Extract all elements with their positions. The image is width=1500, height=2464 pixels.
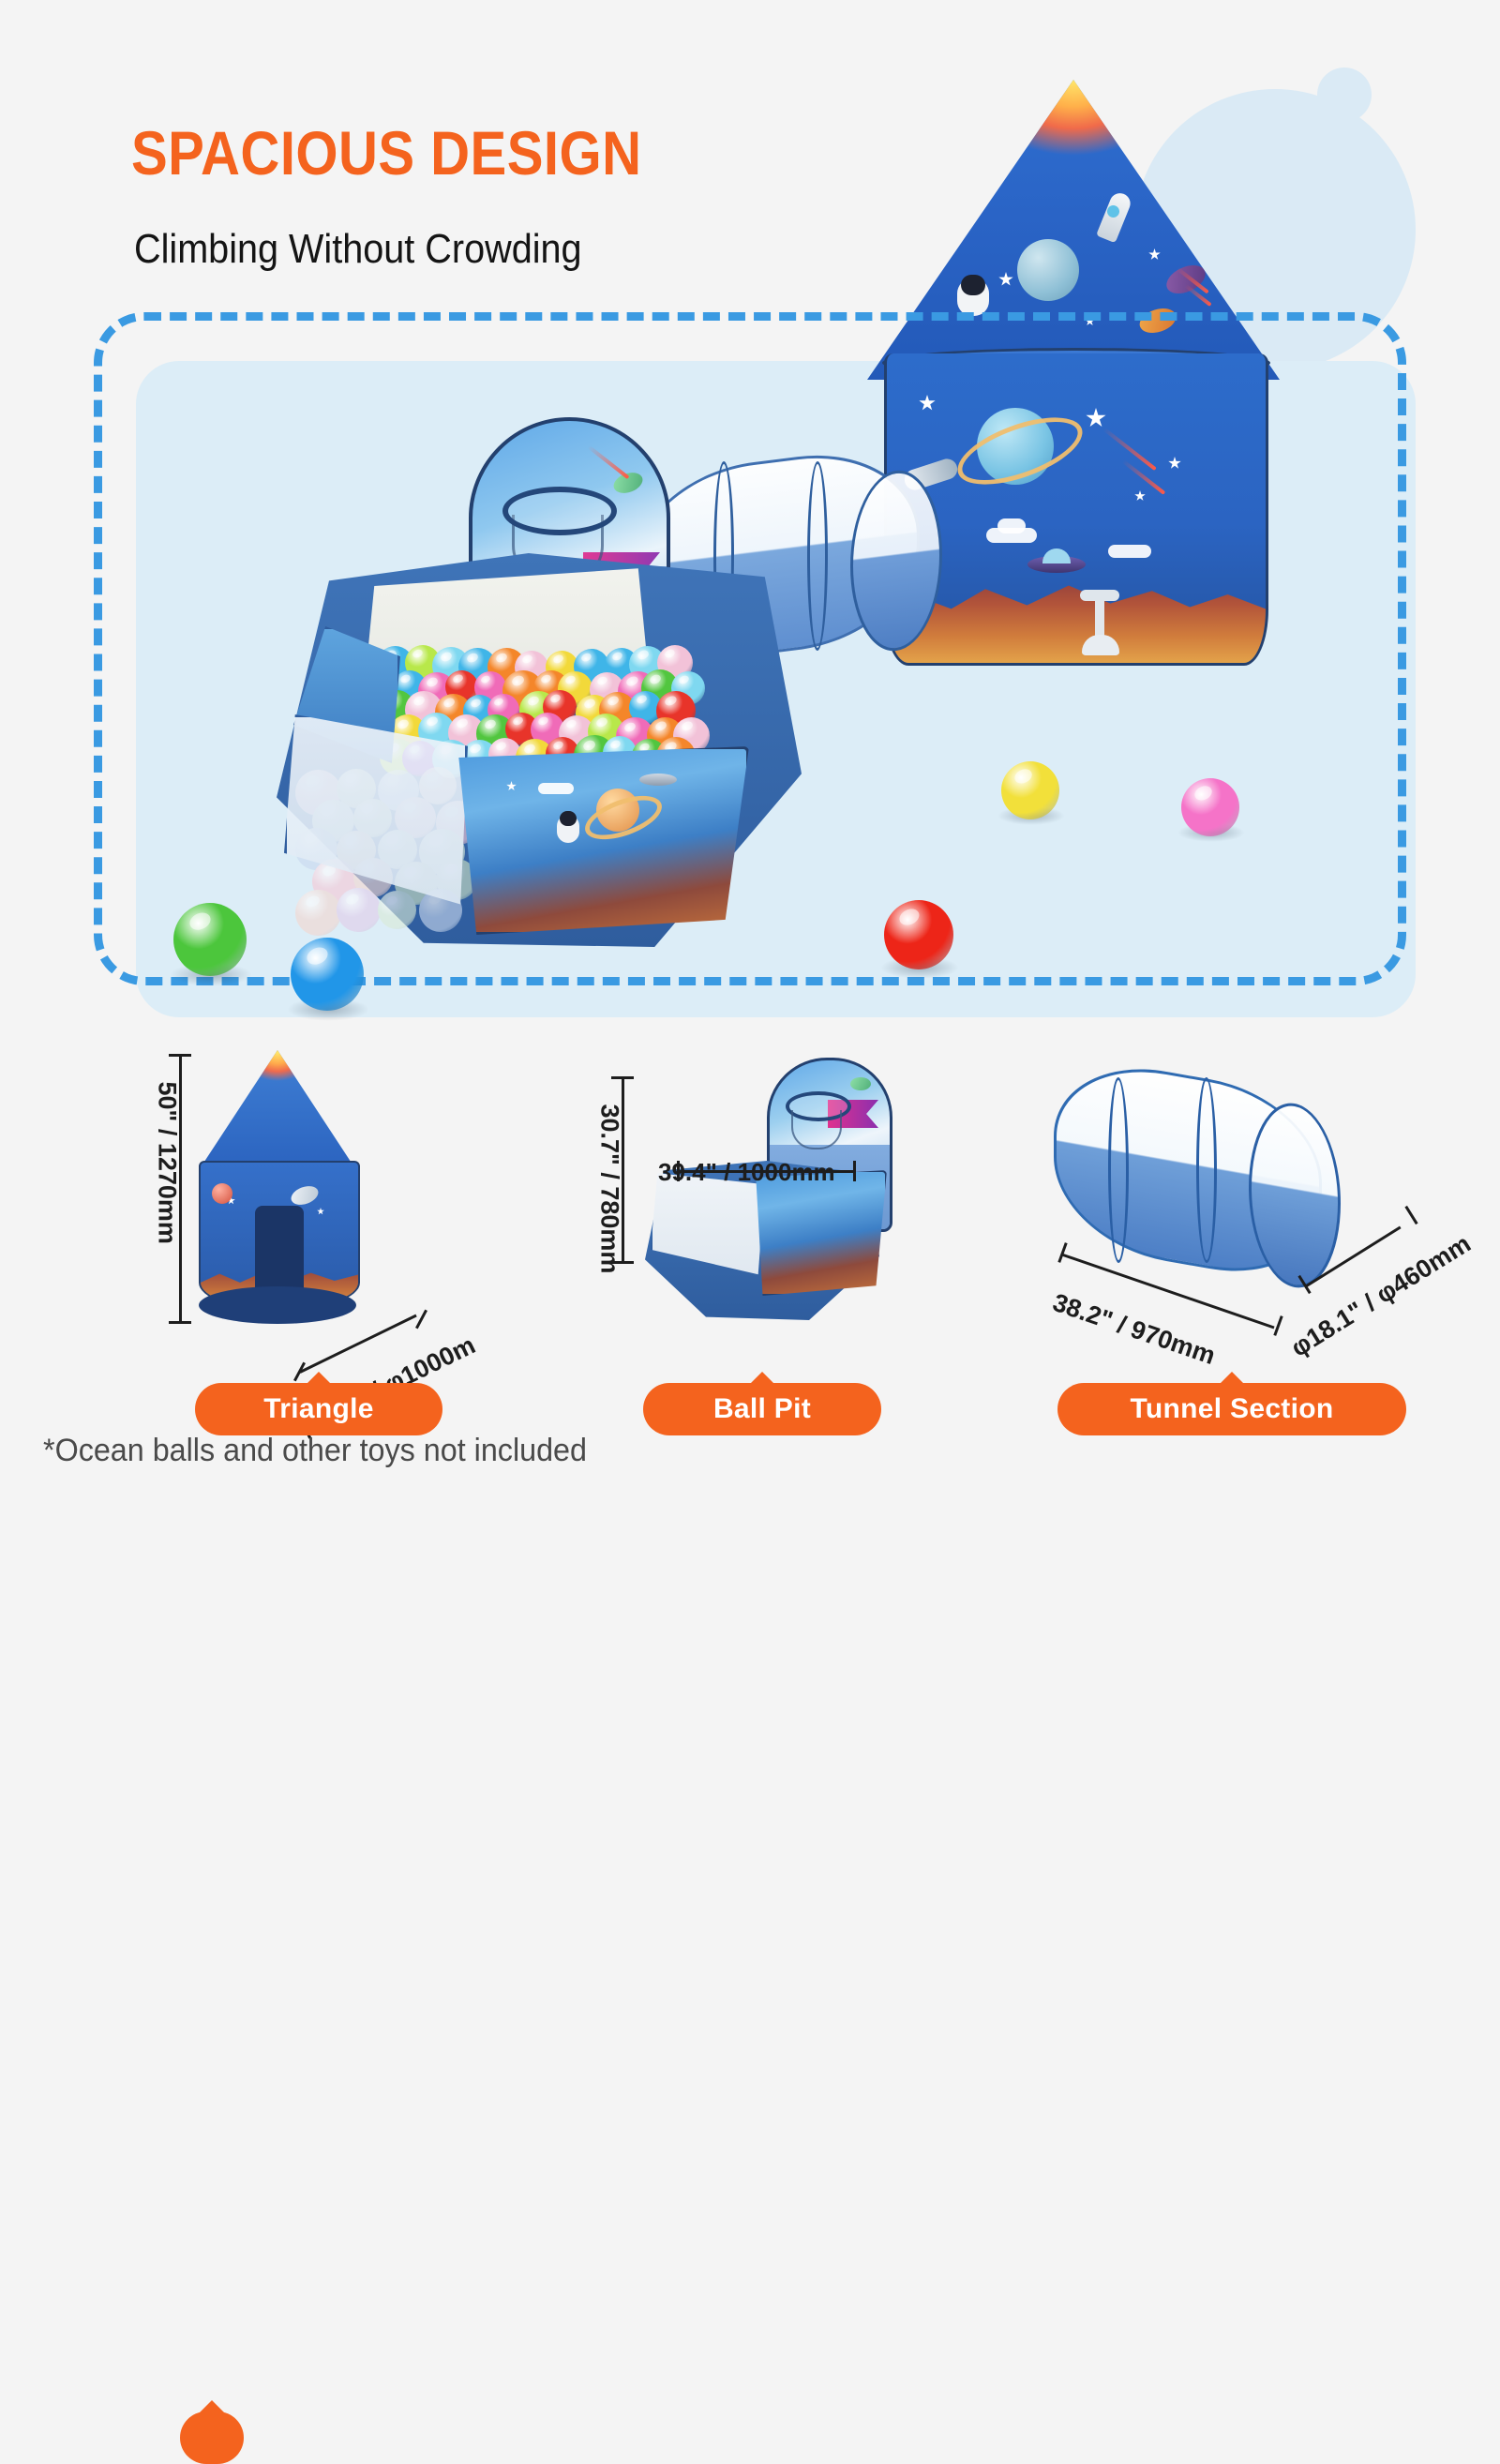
blue-ball xyxy=(291,938,364,1011)
ballpit-height-dim: 30.7" / 780mm xyxy=(595,1104,624,1274)
pink-ball xyxy=(1181,778,1239,836)
spec-triangle: 50" / 1270mm φ39.4" / φ1000m xyxy=(141,1041,497,1350)
label-pill-triangle[interactable]: Triangle xyxy=(195,1383,442,1435)
hero-dashed-border xyxy=(94,312,1406,985)
footnote-text: *Ocean balls and other toys not included xyxy=(43,1433,587,1469)
yellow-ball xyxy=(1001,761,1059,819)
label-pill-ball-pit[interactable]: Ball Pit xyxy=(643,1383,881,1435)
triangle-height-dim: 50" / 1270mm xyxy=(153,1082,182,1244)
label-pill-tunnel[interactable]: Tunnel Section xyxy=(1057,1383,1406,1435)
spec-ball-pit: 30.7" / 780mm 39.4" / 1000mm xyxy=(572,1050,947,1350)
decorative-circle-small xyxy=(1317,68,1372,122)
poster-canvas: SPACIOUS DESIGN Climbing Without Crowdin… xyxy=(0,0,1500,1500)
page-title: SPACIOUS DESIGN xyxy=(131,122,641,184)
spec-tunnel: 38.2" / 970mm φ18.1" / φ460mm xyxy=(1022,1055,1434,1355)
ballpit-width-dim: 39.4" / 1000mm xyxy=(658,1158,835,1187)
page-subtitle: Climbing Without Crowding xyxy=(134,223,582,275)
red-ball xyxy=(884,900,953,969)
green-ball xyxy=(173,903,247,976)
